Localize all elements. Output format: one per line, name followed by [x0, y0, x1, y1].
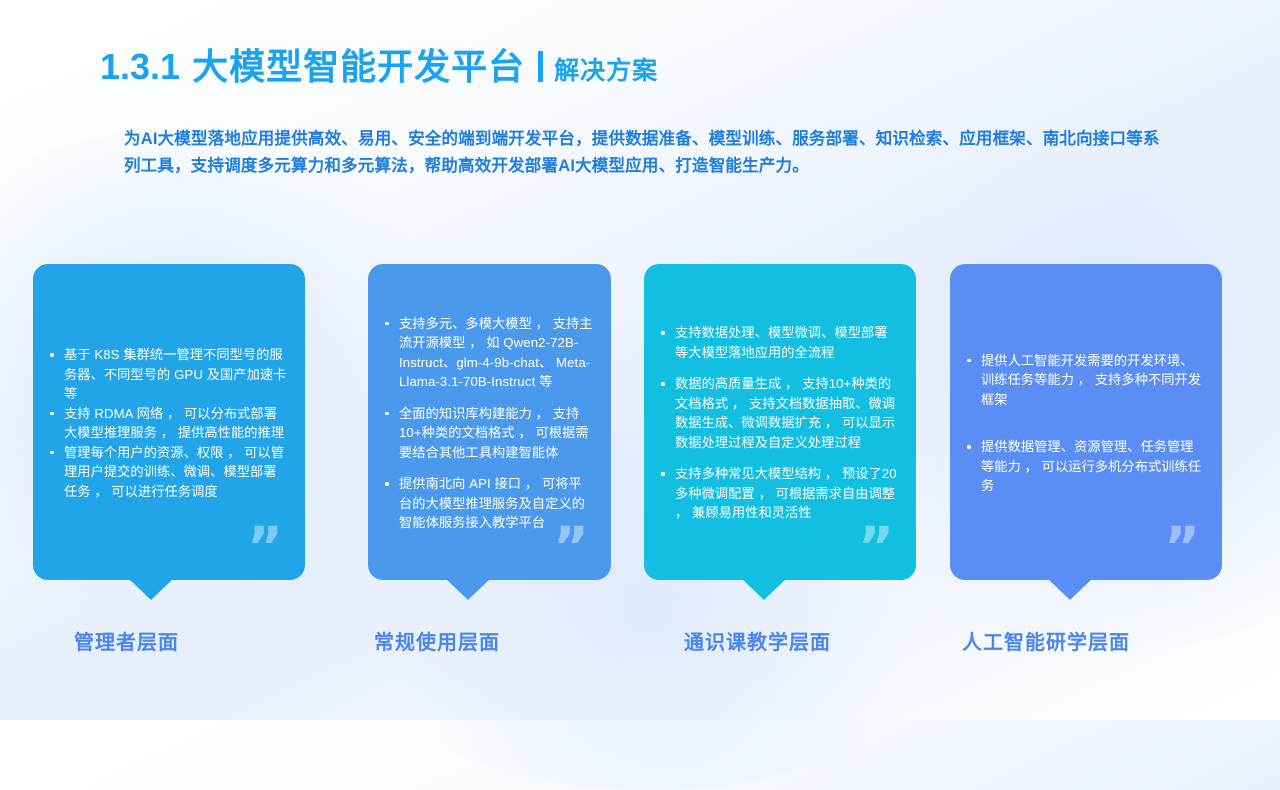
card-pointer-tail — [446, 579, 490, 600]
list-item: 支持多种常见大模型结构 ， 预设了20多种微调配置 ， 可根据需求自由调整 ， … — [658, 464, 898, 523]
list-item: 支持 RDMA 网络 ， 可以分布式部署大模型推理服务 ， 提供高性能的推理 — [47, 404, 287, 443]
card-bullet-list: 支持多元、多模大模型 ， 支持主流开源模型 ， 如 Qwen2-72B-Inst… — [382, 314, 593, 533]
quote-mark-icon: ” — [858, 528, 894, 566]
list-item: 提供数据管理、资源管理、任务管理等能力 ， 可以运行多机分布式训练任务 — [964, 437, 1204, 496]
list-item: 支持多元、多模大模型 ， 支持主流开源模型 ， 如 Qwen2-72B-Inst… — [382, 314, 593, 392]
card-group: 基于 K8S 集群统一管理不同型号的服务器、不同型号的 GPU 及国产加速卡等 … — [0, 264, 1280, 590]
card-label-administrator-level: 管理者层面 — [74, 626, 179, 655]
card-general-education-teaching-level[interactable]: 支持数据处理、模型微调、模型部署等大模型落地应用的全流程 数据的高质量生成 ， … — [644, 264, 916, 580]
card-label-ai-research-study-level: 人工智能研学层面 — [962, 626, 1130, 655]
card-label-general-education-teaching-level: 通识课教学层面 — [684, 626, 831, 655]
quote-mark-icon: ” — [247, 528, 283, 566]
slide-root: 1.3.1 大模型智能开发平台 解决方案 为AI大模型落地应用提供高效、易用、安… — [0, 0, 1280, 720]
card-label-group: 管理者层面 常规使用层面 通识课教学层面 人工智能研学层面 — [0, 626, 1280, 666]
list-item: 基于 K8S 集群统一管理不同型号的服务器、不同型号的 GPU 及国产加速卡等 — [47, 345, 287, 404]
card-pointer-tail — [129, 579, 173, 600]
list-item: 数据的高质量生成 ， 支持10+种类的文档格式 ， 支持文档数据抽取、微调数据生… — [658, 374, 898, 452]
page-title-main: 大模型智能开发平台 — [192, 38, 525, 90]
card-bullet-list: 支持数据处理、模型微调、模型部署等大模型落地应用的全流程 数据的高质量生成 ， … — [658, 323, 898, 523]
list-item: 管理每个用户的资源、权限 ， 可以管理用户提交的训练、微调、模型部署任务 ， 可… — [47, 443, 287, 502]
title-separator-bar — [538, 51, 543, 82]
card-label-general-usage-level: 常规使用层面 — [374, 626, 500, 655]
page-description: 为AI大模型落地应用提供高效、易用、安全的端到端开发平台，提供数据准备、模型训练… — [124, 126, 1168, 180]
card-pointer-tail — [1048, 579, 1092, 600]
list-item: 提供南北向 API 接口 ， 可将平台的大模型推理服务及自定义的智能体服务接入教… — [382, 474, 593, 533]
card-bullet-list: 基于 K8S 集群统一管理不同型号的服务器、不同型号的 GPU 及国产加速卡等 … — [47, 345, 287, 501]
card-ai-research-study-level[interactable]: 提供人工智能开发需要的开发环境、训练任务等能力 ， 支持多种不同开发框架 提供数… — [950, 264, 1222, 580]
card-bullet-list: 提供人工智能开发需要的开发环境、训练任务等能力 ， 支持多种不同开发框架 提供数… — [964, 351, 1204, 496]
page-title-subtitle: 解决方案 — [554, 51, 658, 87]
page-title: 1.3.1 大模型智能开发平台 解决方案 — [100, 38, 658, 90]
list-item: 支持数据处理、模型微调、模型部署等大模型落地应用的全流程 — [658, 323, 898, 362]
card-administrator-level[interactable]: 基于 K8S 集群统一管理不同型号的服务器、不同型号的 GPU 及国产加速卡等 … — [33, 264, 305, 580]
card-general-usage-level[interactable]: 支持多元、多模大模型 ， 支持主流开源模型 ， 如 Qwen2-72B-Inst… — [368, 264, 611, 580]
page-title-number: 1.3.1 — [100, 46, 180, 88]
quote-mark-icon: ” — [1164, 528, 1200, 566]
card-pointer-tail — [742, 579, 786, 600]
list-item: 全面的知识库构建能力 ， 支持10+种类的文档格式 ， 可根据需要结合其他工具构… — [382, 404, 593, 463]
list-item: 提供人工智能开发需要的开发环境、训练任务等能力 ， 支持多种不同开发框架 — [964, 351, 1204, 410]
quote-mark-icon: ” — [553, 528, 589, 566]
